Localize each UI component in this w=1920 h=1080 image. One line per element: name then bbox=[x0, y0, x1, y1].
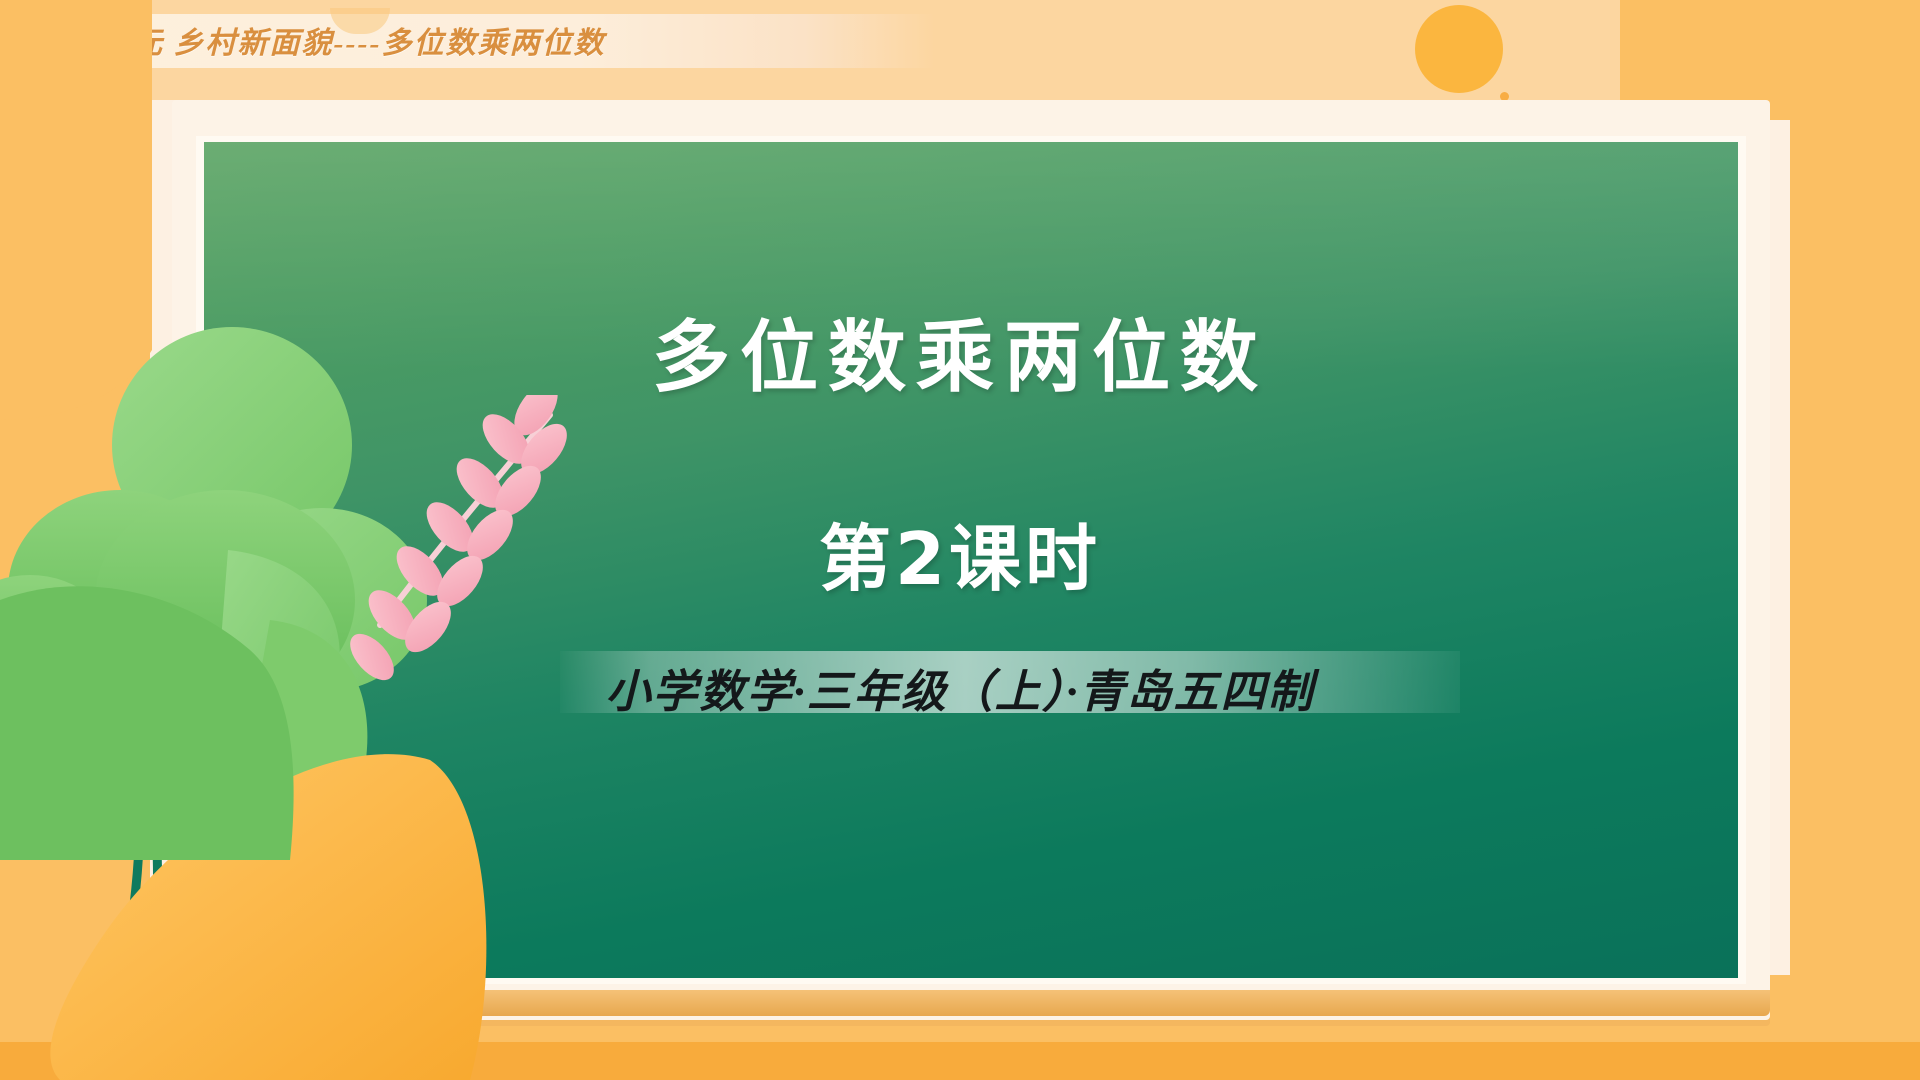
background-bottom-strip bbox=[0, 1042, 1920, 1080]
chalkboard-ledge bbox=[172, 990, 1770, 1016]
lesson-subtitle: 第2课时 bbox=[0, 500, 1920, 605]
slide-root: 第四单元 乡村新面貌----多位数乘两位数 多位数乘两位数 第2课时 小学数学·… bbox=[0, 0, 1920, 1080]
orange-circle-icon bbox=[1415, 5, 1503, 93]
page-title: 多位数乘两位数 bbox=[0, 295, 1920, 407]
unit-header-text: 第四单元 乡村新面貌----多位数乘两位数 bbox=[36, 18, 605, 62]
course-meta-text: 小学数学·三年级（上）·青岛五四制 bbox=[0, 655, 1920, 720]
